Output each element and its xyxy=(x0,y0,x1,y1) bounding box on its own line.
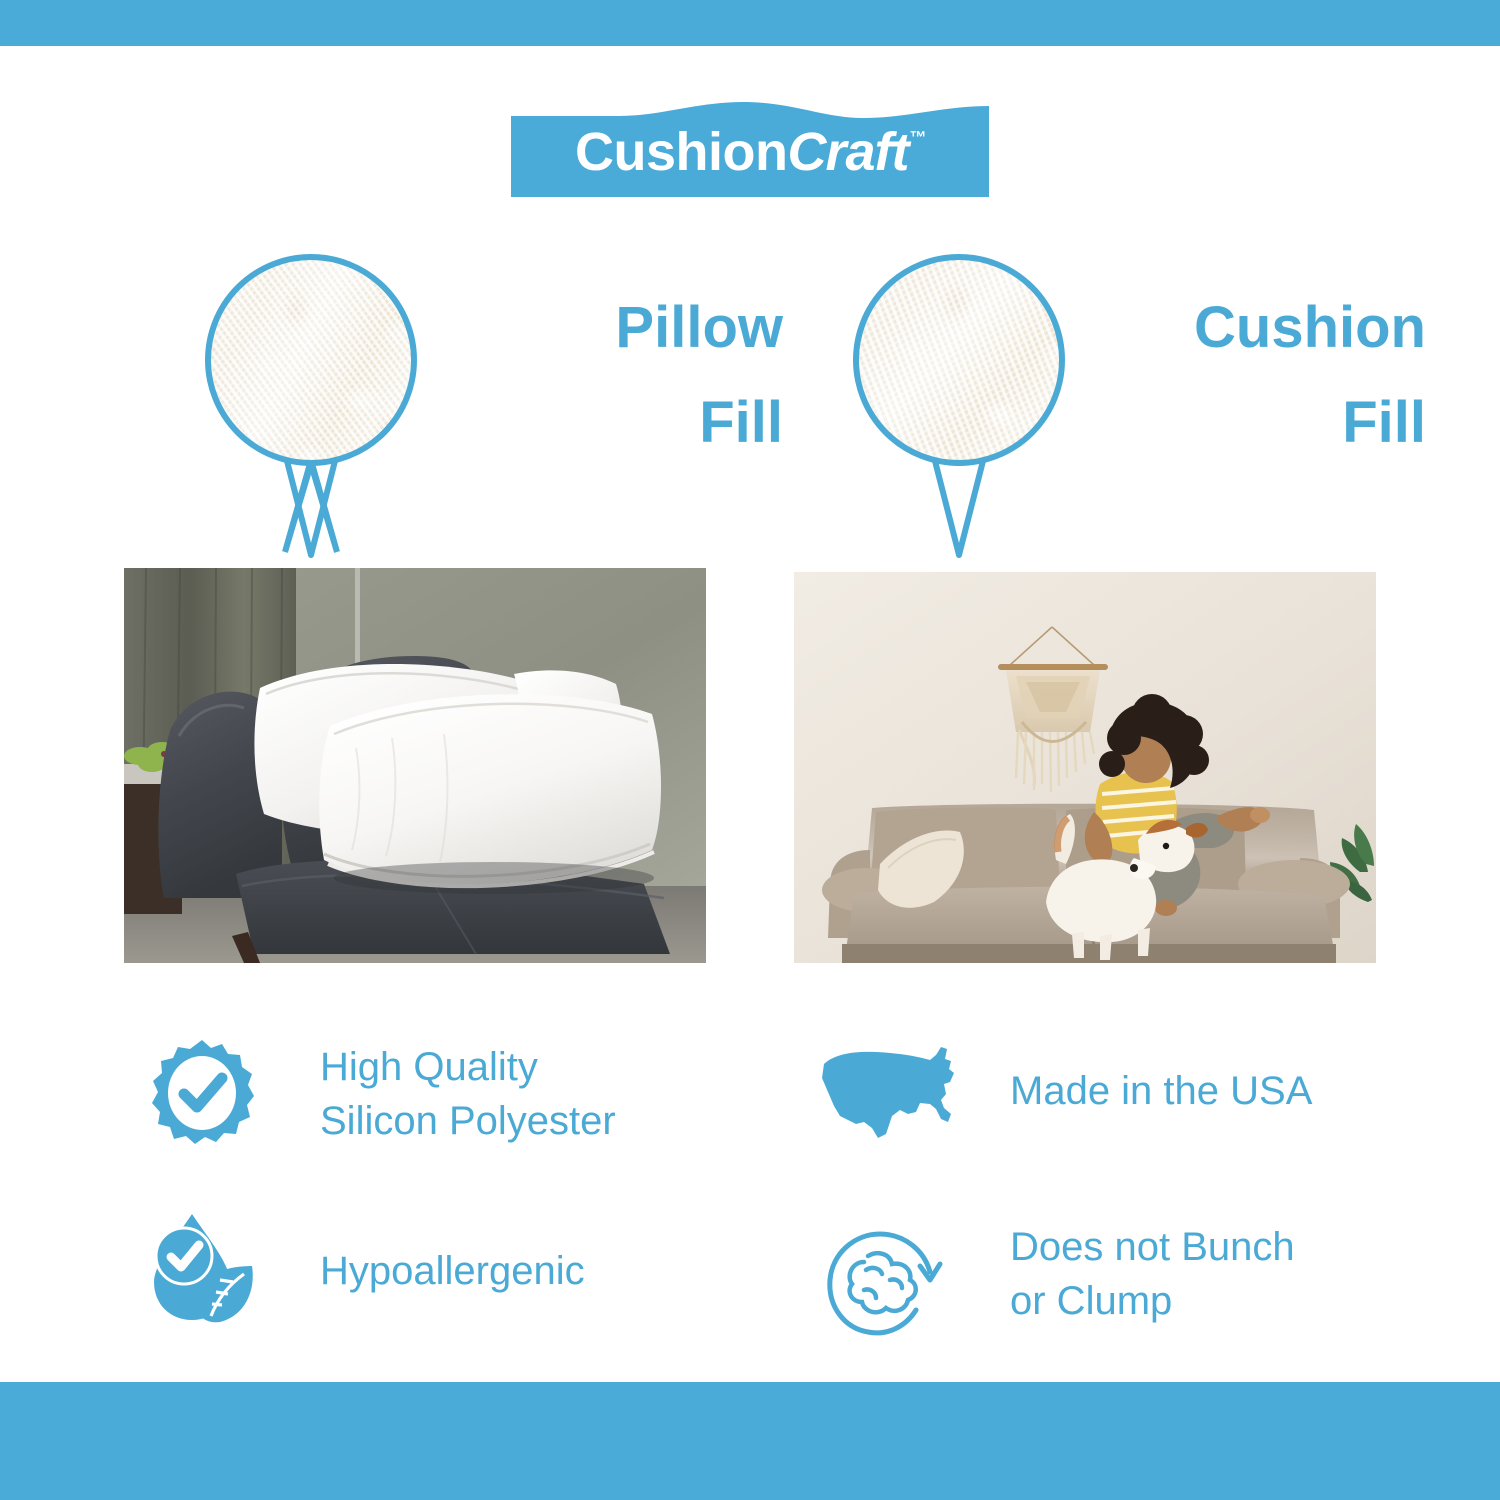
logo-word-craft: Craft xyxy=(787,121,908,183)
droplet-leaf-check-icon xyxy=(148,1212,260,1330)
callout-cushion-fill: Cushion Fill xyxy=(851,252,1281,562)
cloud-refresh-icon xyxy=(820,1218,950,1344)
quality-badge-check-icon xyxy=(148,1038,256,1156)
bottom-brand-bar xyxy=(0,1382,1500,1500)
trademark-symbol: ™ xyxy=(910,128,927,148)
pillow-photo-art xyxy=(124,568,706,963)
callout-pillow-fill: Pillow Fill xyxy=(203,252,643,562)
feature-high-quality: High Quality Silicon Polyester xyxy=(148,1038,708,1168)
top-brand-bar xyxy=(0,0,1500,46)
logo-word-cushion: Cushion xyxy=(575,121,787,183)
feature-label-does-not-bunch: Does not Bunch or Clump xyxy=(1010,1220,1410,1328)
feature-does-not-bunch: Does not Bunch or Clump xyxy=(820,1218,1380,1348)
feature-label-made-in-usa: Made in the USA xyxy=(1010,1064,1390,1118)
cushion-photo xyxy=(794,572,1376,963)
usa-map-icon xyxy=(820,1042,960,1148)
brand-logo: CushionCraft™ xyxy=(511,100,989,197)
infographic-page: CushionCraft™ Pillow Fill xyxy=(0,0,1500,1500)
feature-made-in-usa: Made in the USA xyxy=(820,1042,1380,1162)
cushion-photo-art xyxy=(794,572,1376,963)
pillow-photo xyxy=(124,568,706,963)
logo-wordmark: CushionCraft™ xyxy=(511,100,989,197)
callout-label-pillow: Pillow Fill xyxy=(353,280,783,470)
feature-label-high-quality: High Quality Silicon Polyester xyxy=(320,1040,720,1148)
callout-label-cushion: Cushion Fill xyxy=(1001,280,1426,470)
feature-label-hypoallergenic: Hypoallergenic xyxy=(320,1244,720,1298)
feature-hypoallergenic: Hypoallergenic xyxy=(148,1212,708,1342)
